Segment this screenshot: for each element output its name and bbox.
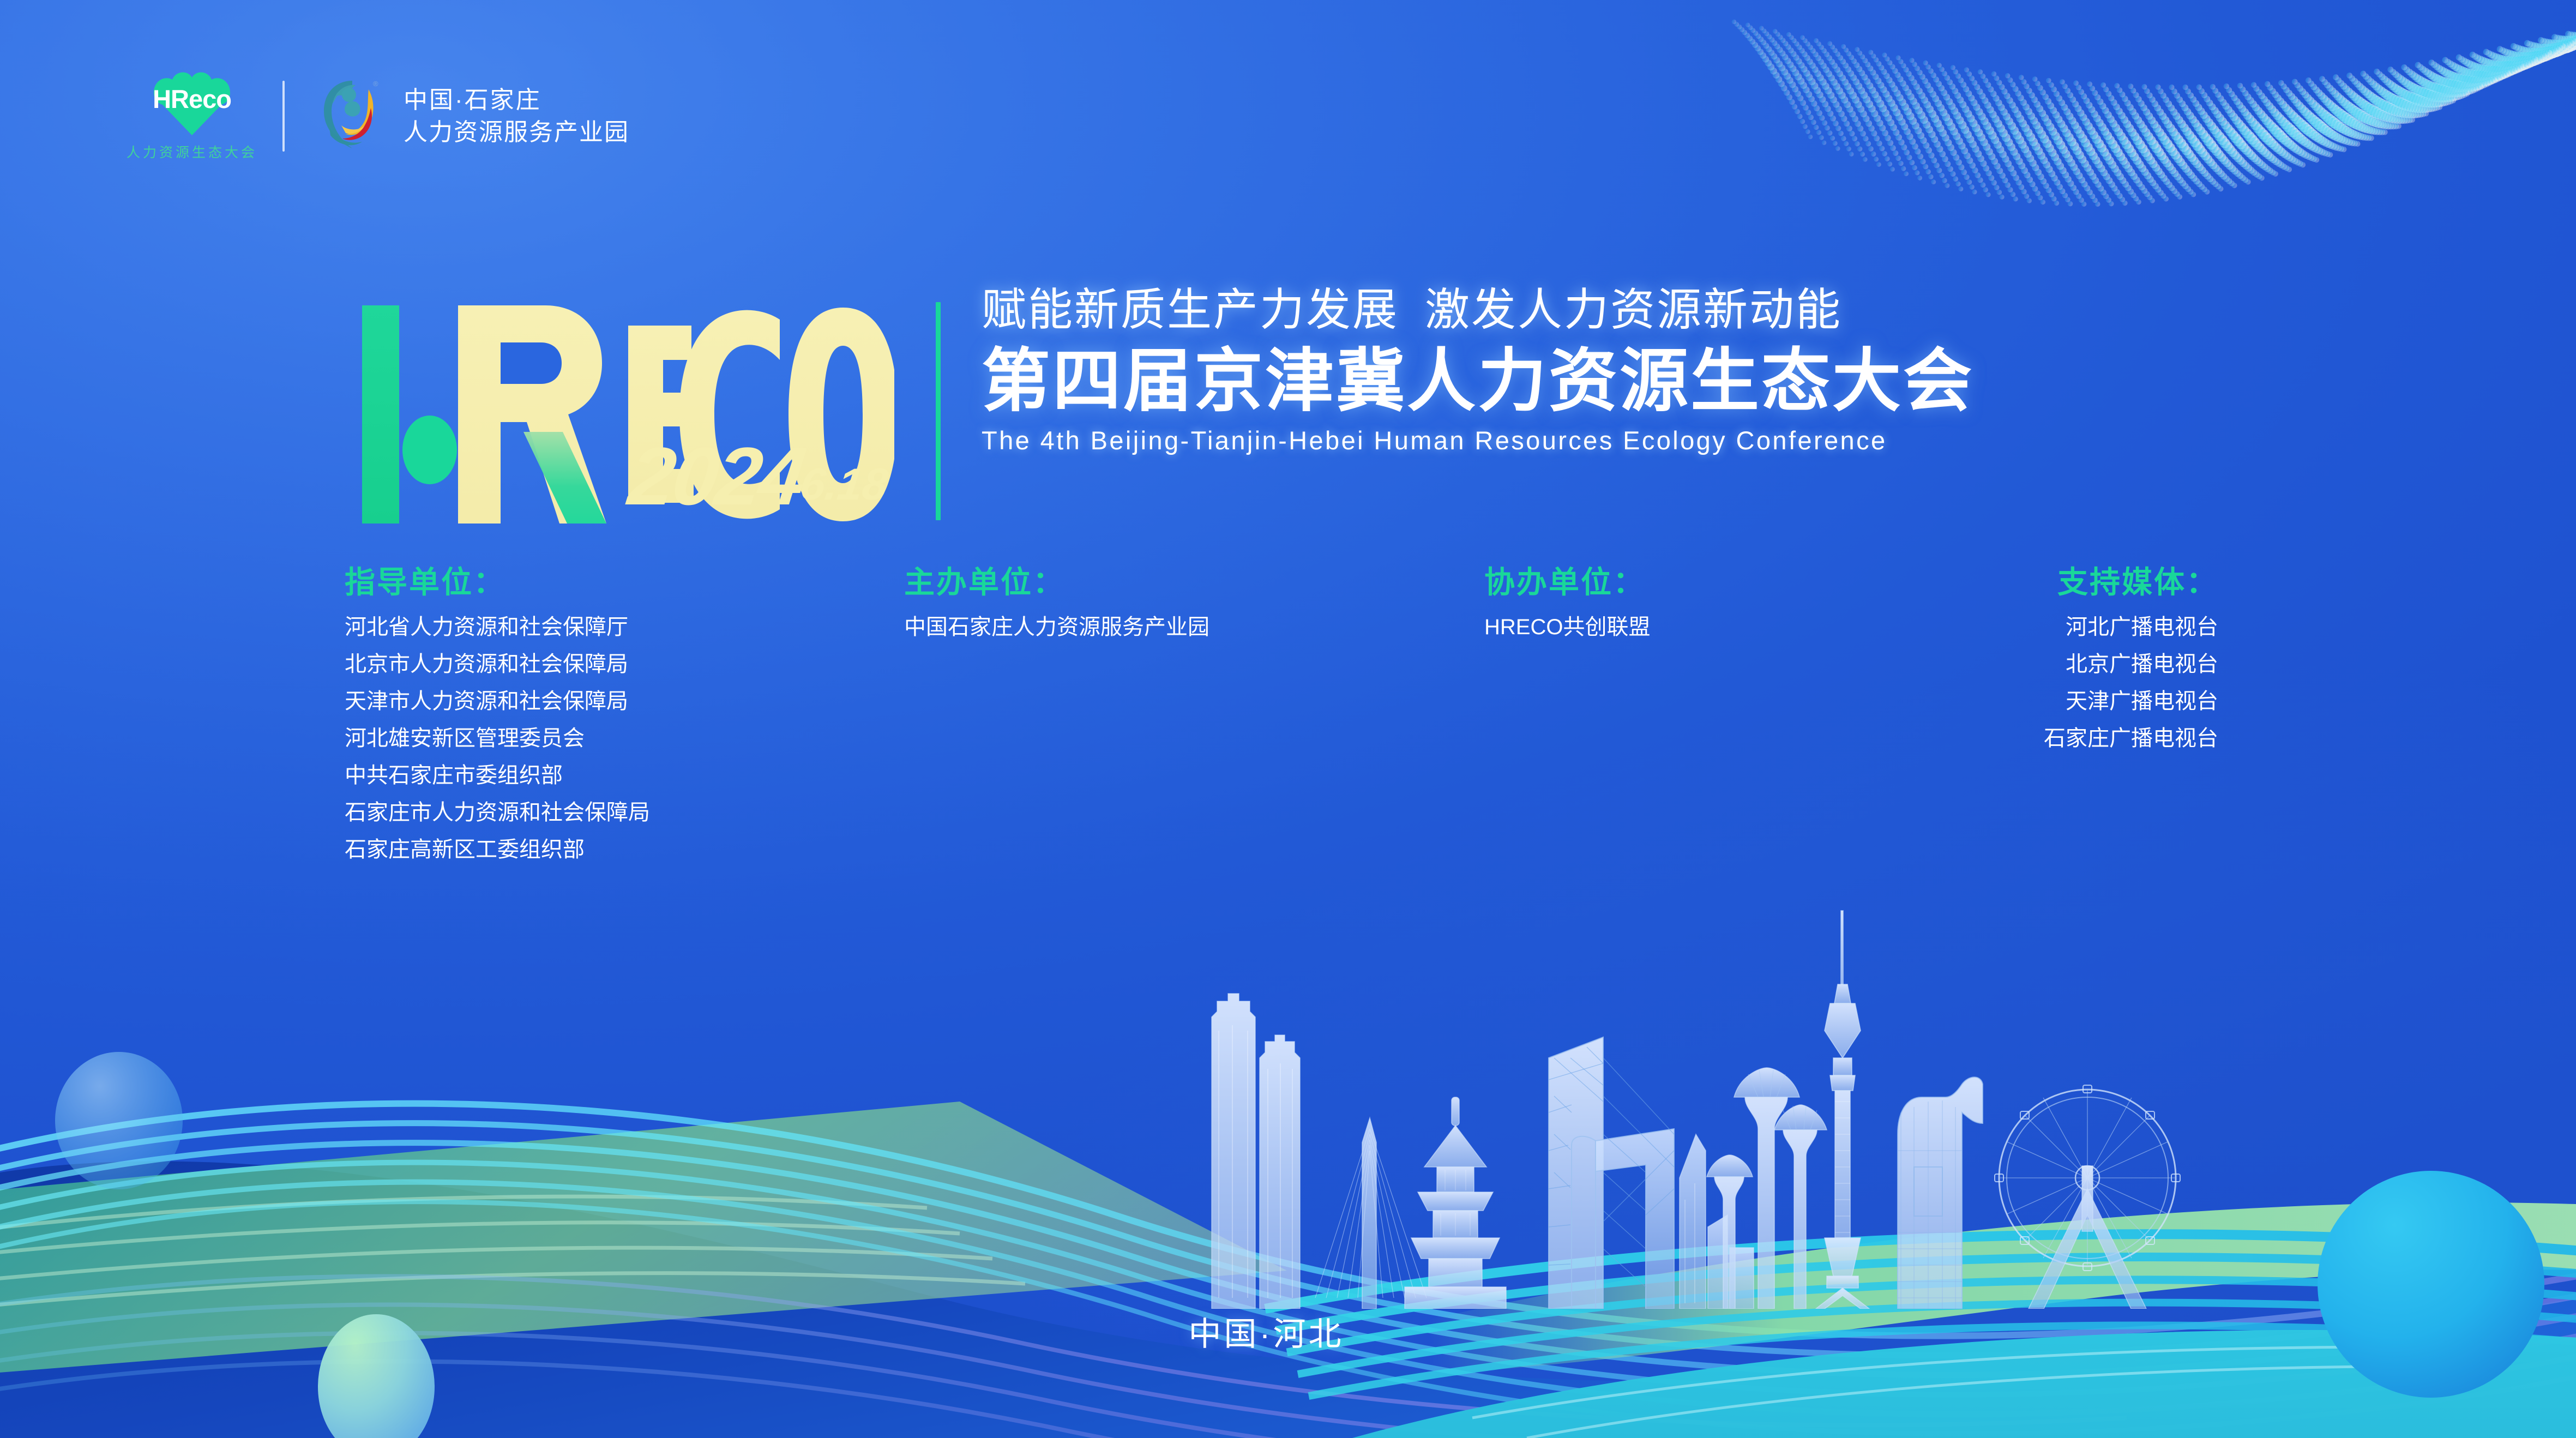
org-heading-cohost: 协办单位： xyxy=(1484,567,1650,598)
org-item: 中国石家庄人力资源服务产业园 xyxy=(904,616,1209,638)
park-logo-line2: 人力资源服务产业园 xyxy=(404,118,629,146)
shijiazhuang-park-logo: ® 中国·石家庄 人力资源服务产业园 xyxy=(316,75,629,157)
hero-english-title: The 4th Beijing-Tianjin-Hebei Human Reso… xyxy=(982,425,2552,455)
park-emblem-icon: ® xyxy=(316,75,388,157)
hero-section: 2024 6.18 赋能新质生产力发展激发人力资源新动能 第四届京津冀人力资源生… xyxy=(0,277,2576,533)
org-column-cohost: 协办单位： HRECO共创联盟 xyxy=(1484,567,1650,653)
hreco-logo: HReco 人力资源生态大会 xyxy=(127,71,257,161)
hero-vertical-divider xyxy=(936,302,941,520)
org-item: 石家庄高新区工委组织部 xyxy=(345,839,650,861)
header-logos: HReco 人力资源生态大会 ® 中国·石家庄 xyxy=(127,64,629,168)
org-heading-media: 支持媒体： xyxy=(1989,567,2218,598)
hreco-fan-mark-icon: HReco xyxy=(134,71,250,135)
org-item: 天津广播电视台 xyxy=(1989,690,2218,712)
org-item: 北京广播电视台 xyxy=(1989,653,2218,675)
hero-slogan-part1: 赋能新质生产力发展 xyxy=(982,285,1399,335)
city-skyline-illustration xyxy=(1189,894,2225,1309)
org-column-guidance: 指导单位： 河北省人力资源和社会保障厅 北京市人力资源和社会保障局 天津市人力资… xyxy=(345,567,650,876)
logo-divider xyxy=(282,81,285,152)
org-item: 中共石家庄市委组织部 xyxy=(345,765,650,786)
org-column-media: 支持媒体： 河北广播电视台 北京广播电视台 天津广播电视台 石家庄广播电视台 xyxy=(1989,567,2218,765)
hero-slogan-part2: 激发人力资源新动能 xyxy=(1425,285,1842,335)
org-item: 河北广播电视台 xyxy=(1989,616,2218,638)
hero-main-title: 第四届京津冀人力资源生态大会 xyxy=(982,345,2552,418)
registered-mark: ® xyxy=(373,80,378,88)
hero-slogan: 赋能新质生产力发展激发人力资源新动能 xyxy=(982,288,2552,333)
park-logo-line1: 中国·石家庄 xyxy=(404,86,629,114)
org-column-host: 主办单位： 中国石家庄人力资源服务产业园 xyxy=(904,567,1209,653)
organizations-section: 指导单位： 河北省人力资源和社会保障厅 北京市人力资源和社会保障局 天津市人力资… xyxy=(0,567,2576,873)
hero-date: 6.18 xyxy=(798,462,890,507)
hero-text-block: 赋能新质生产力发展激发人力资源新动能 第四届京津冀人力资源生态大会 The 4t… xyxy=(982,288,2552,455)
org-item: 石家庄广播电视台 xyxy=(1989,727,2218,749)
org-heading-guidance: 指导单位： xyxy=(345,567,650,598)
conference-backdrop-poster: HReco 人力资源生态大会 ® 中国·石家庄 xyxy=(0,0,2576,1438)
park-logo-text: 中国·石家庄 人力资源服务产业园 xyxy=(404,86,629,146)
org-item: 北京市人力资源和社会保障局 xyxy=(345,653,650,675)
footer-location: 中国·河北 xyxy=(0,1308,2576,1355)
org-item: 天津市人力资源和社会保障局 xyxy=(345,690,650,712)
hreco-wordmark: HReco xyxy=(134,86,250,112)
org-heading-host: 主办单位： xyxy=(904,567,1209,598)
hero-year: 2024 xyxy=(625,435,808,517)
footer-location-text: 中国·河北 xyxy=(1189,1308,1344,1355)
org-item: 石家庄市人力资源和社会保障局 xyxy=(345,802,650,823)
hreco-logo-subtitle: 人力资源生态大会 xyxy=(127,142,257,161)
org-item: 河北雄安新区管理委员会 xyxy=(345,727,650,749)
org-item: HRECO共创联盟 xyxy=(1484,616,1650,638)
org-item: 河北省人力资源和社会保障厅 xyxy=(345,616,650,638)
